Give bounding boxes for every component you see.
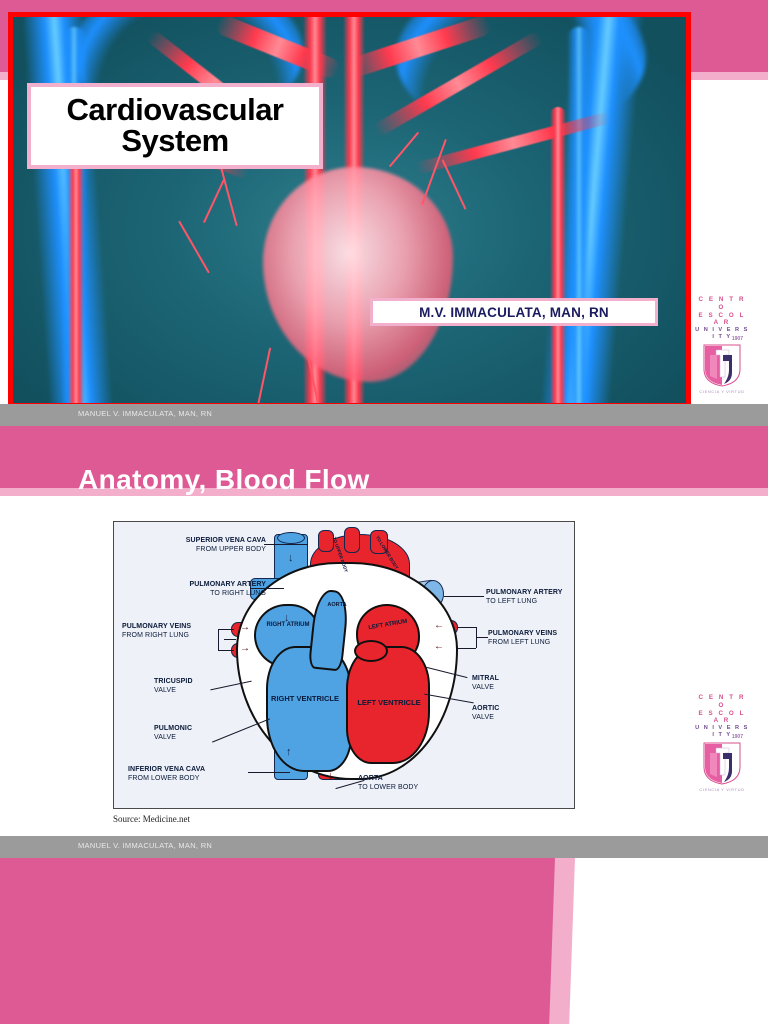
label-pulmonic-valve-bold: PULMONIC [154,724,220,733]
leader-pv-right-2 [218,650,234,651]
presentation-page: Cardiovascular System M.V. IMMACULATA, M… [0,0,768,1024]
flow-arrow-pv-left-icon: ← [434,620,444,631]
mitral-valve-structure [354,640,388,662]
ceu-logo-line-2: E S C O L A R [694,710,750,726]
slide2-footer-text: MANUEL V. IMMACULATA, MAN, RN [78,841,212,850]
label-inferior-vena-cava-bold: INFERIOR VENA CAVA [128,765,248,774]
slide3-pink-block [0,858,555,1024]
slide2-footer-bar: MANUEL V. IMMACULATA, MAN, RN [0,836,768,858]
leader-pv-right-stem [224,639,236,640]
label-pulmonary-artery-left-bold: PULMONARY ARTERY [486,588,575,597]
label-aorta-sub: TO LOWER BODY [358,783,468,792]
label-pulmonary-veins-right-sub: FROM RIGHT LUNG [122,631,220,640]
label-tricuspid-valve-sub: VALVE [154,686,220,695]
slide1-footer-bar: MANUEL V. IMMACULATA, MAN, RN [0,404,768,426]
label-mitral-valve-sub: VALVE [472,683,542,692]
label-mitral-valve-bold: MITRAL [472,674,542,683]
slide2-title: Anatomy, Blood Flow [78,464,370,496]
cardiovascular-photo-frame: Cardiovascular System M.V. IMMACULATA, M… [8,12,691,408]
leader-pv-left-2 [458,648,476,649]
label-tricuspid-valve: TRICUSPID VALVE [154,677,220,696]
label-aorta-bold: AORTA [358,774,468,783]
label-pulmonary-artery-left: PULMONARY ARTERY TO LEFT LUNG [486,588,575,607]
slide-1-title: Cardiovascular System M.V. IMMACULATA, M… [0,0,768,420]
label-pulmonary-artery-right-sub: TO RIGHT LUNG [148,589,266,598]
label-superior-vena-cava-bold: SUPERIOR VENA CAVA [148,536,266,545]
label-pulmonary-artery-left-sub: TO LEFT LUNG [486,597,575,606]
ceu-logo-motto: CIENCIA Y VIRTUD [694,787,750,792]
label-pulmonary-veins-left-bold: PULMONARY VEINS [488,629,575,638]
vein-right-inner-icon [567,27,591,408]
ceu-founding-year: 1907 [732,336,743,342]
leader-svc [264,544,308,545]
label-pulmonary-artery-right: PULMONARY ARTERY TO RIGHT LUNG [148,580,266,599]
ceu-logo-line-1: C E N T R O [694,694,750,710]
label-mitral-valve: MITRAL VALVE [472,674,542,693]
label-pulmonic-valve: PULMONIC VALVE [154,724,220,743]
label-pulmonic-valve-sub: VALVE [154,733,220,742]
internal-label-right-ventricle: RIGHT VENTRICLE [270,694,340,703]
internal-label-aorta: AORTA [320,602,354,609]
ceu-logo: C E N T R O E S C O L A R U N I V E R S … [694,694,750,780]
diagram-source-caption: Source: Medicine.net [113,814,190,824]
internal-label-left-ventricle: LEFT VENTRICLE [354,698,424,707]
slide1-author-box: M.V. IMMACULATA, MAN, RN [370,298,658,326]
label-aortic-valve-sub: VALVE [472,713,542,722]
slide1-title-line-1: Cardiovascular [67,94,284,125]
label-tricuspid-valve-bold: TRICUSPID [154,677,220,686]
artery-side-right-icon [550,107,566,407]
flow-arrow-pv-right-2-icon: → [240,643,250,654]
heart-diagram-frame: RIGHT ATRIUM LEFT ATRIUM RIGHT VENTRICLE… [113,521,575,809]
label-aortic-valve-bold: AORTIC [472,704,542,713]
label-inferior-vena-cava: INFERIOR VENA CAVA FROM LOWER BODY [128,765,248,784]
label-superior-vena-cava: SUPERIOR VENA CAVA FROM UPPER BODY [148,536,266,555]
flow-arrow-right-atrium-icon: ↓ [284,612,290,624]
label-pulmonary-artery-right-bold: PULMONARY ARTERY [148,580,266,589]
ceu-founding-year: 1907 [732,734,743,740]
ceu-logo-line-1: C E N T R O [694,296,750,312]
slide1-title-box: Cardiovascular System [27,83,323,169]
slide1-title-line-2: System [121,125,228,158]
leader-pv-right-1 [218,629,234,630]
ceu-logo-line-2: E S C O L A R [694,312,750,328]
flow-arrow-pv-left-2-icon: ← [434,641,444,652]
label-superior-vena-cava-sub: FROM UPPER BODY [148,545,266,554]
slide-2-anatomy: Anatomy, Blood Flow [0,426,768,858]
ceu-shield-icon: 1907 [702,741,742,785]
flow-arrow-ivc-icon: ↑ [286,746,292,758]
flow-arrow-pv-right-icon: → [240,622,250,633]
ceu-logo-motto: CIENCIA Y VIRTUD [694,389,750,394]
leader-pv-left-1 [458,627,476,628]
label-inferior-vena-cava-sub: FROM LOWER BODY [128,774,248,783]
label-pulmonary-veins-right-bold: PULMONARY VEINS [122,622,220,631]
label-aorta-to-lower-body: AORTA TO LOWER BODY [358,774,468,793]
label-pulmonary-veins-right: PULMONARY VEINS FROM RIGHT LUNG [122,622,220,641]
ceu-logo: C E N T R O E S C O L A R U N I V E R S … [694,296,750,382]
leader-ivc [248,772,290,773]
svc-opening [277,532,305,544]
ceu-shield-icon: 1907 [702,343,742,387]
flow-arrow-svc-icon: ↓ [288,552,294,564]
carotid-branch [344,527,360,553]
slide1-footer-text: MANUEL V. IMMACULATA, MAN, RN [78,409,212,418]
label-pulmonary-veins-left: PULMONARY VEINS FROM LEFT LUNG [488,629,575,648]
heart-diagram: RIGHT ATRIUM LEFT ATRIUM RIGHT VENTRICLE… [114,522,574,808]
leader-pv-left-stem [476,637,488,638]
leader-pa-left [444,596,484,597]
label-pulmonary-veins-left-sub: FROM LEFT LUNG [488,638,575,647]
slide-3-partial [0,858,768,1024]
slide1-author-text: M.V. IMMACULATA, MAN, RN [419,305,609,320]
label-aortic-valve: AORTIC VALVE [472,704,542,723]
flow-arrow-aorta-icon: ↓ [328,770,334,782]
